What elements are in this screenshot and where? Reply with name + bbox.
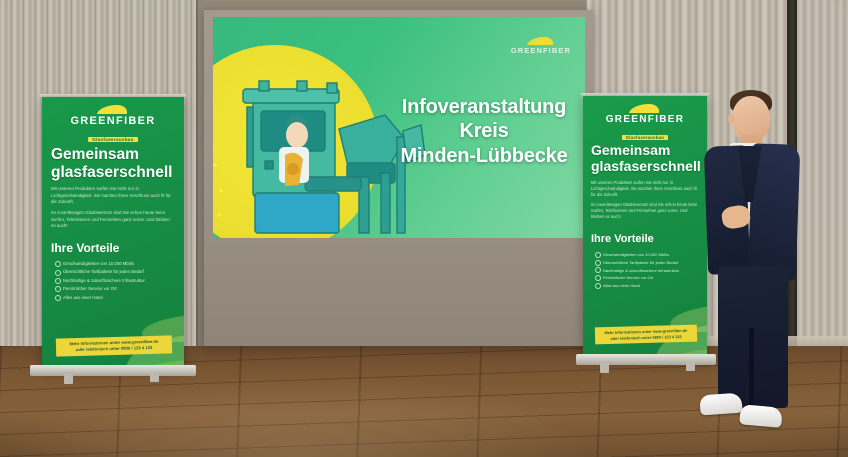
list-item: Persönlicher Service vor Ort xyxy=(595,274,703,282)
list-item: Nachhaltige & zukunftssichere Infrastruk… xyxy=(55,277,179,285)
presenter xyxy=(692,88,814,436)
swoosh-icon xyxy=(527,37,555,45)
presenter-leg-gap xyxy=(749,328,754,410)
swoosh-icon xyxy=(629,104,661,113)
list-item: Persönlicher Service vor Ort xyxy=(55,285,179,293)
presenter-shoe-left xyxy=(699,393,742,416)
banner-left-logo-wordmark: GREENFIBER xyxy=(42,115,184,127)
rollup-banner-left: GREENFIBER Glasfaserausbau Gemeinsam gla… xyxy=(42,97,184,369)
slide-greenfiber-logo: GREENFIBER xyxy=(511,37,571,55)
presenter-shoe-right xyxy=(739,404,783,428)
banner-right-logo: GREENFIBER Glasfaserausbau xyxy=(583,104,707,144)
banner-left-headline: Gemeinsam glasfaserschnell xyxy=(51,146,172,181)
banner-right-footer: Mehr Informationen unter www.greenfiber.… xyxy=(595,325,697,345)
list-item: Nachhaltige & zukunftssichere Infrastruk… xyxy=(595,267,703,275)
slide-headline-line-1: Infoveranstaltung xyxy=(389,95,579,119)
list-item: Übersichtliche Tarifpakete für jeden Bed… xyxy=(595,259,703,267)
banner-left-base xyxy=(30,365,196,376)
banner-left-body-2: Im zuverlässigen Glasfasernetz sind Sie … xyxy=(51,210,175,230)
presenter-ear xyxy=(728,114,735,124)
list-item: Alles aus einer Hand xyxy=(595,282,703,290)
banner-right-logo-wordmark: GREENFIBER xyxy=(583,114,707,125)
banner-right-headline-line-1: Gemeinsam xyxy=(591,143,701,159)
slide-headline-line-2: Kreis xyxy=(389,119,579,143)
banner-right-body-1: Mit unseren Produkten surfen Sie nicht n… xyxy=(591,180,699,198)
banner-right-foot-a xyxy=(600,363,609,373)
banner-right-benefits-list: Geschwindigkeiten von 10.000 Mbit/s Über… xyxy=(595,251,703,290)
banner-left-headline-line-2: glasfaserschnell xyxy=(51,164,172,182)
banner-left-benefits-list: Geschwindigkeiten von 10.000 Mbit/s Über… xyxy=(55,260,179,302)
slide-headline-line-3: Minden-Lübbecke xyxy=(389,144,579,168)
banner-right-logo-badge: Glasfaserausbau xyxy=(622,135,668,140)
rollup-banner-right: GREENFIBER Glasfaserausbau Gemeinsam gla… xyxy=(583,96,707,358)
banner-right-body-2: Im zuverlässigen Glasfasernetz sind Sie … xyxy=(591,202,699,220)
presentation-slide: Infoveranstaltung Kreis Minden-Lübbecke … xyxy=(213,17,585,238)
banner-right-headline-line-2: glasfaserschnell xyxy=(591,159,701,175)
slide-logo-wordmark: GREENFIBER xyxy=(511,46,571,55)
wall-seam-left xyxy=(196,0,198,352)
banner-left-body-1: Mit unseren Produkten surfen Sie nicht n… xyxy=(51,186,175,206)
banner-right-subhead: Ihre Vorteile xyxy=(591,233,654,245)
banner-left-logo: GREENFIBER Glasfaserausbau xyxy=(42,105,184,146)
list-item: Übersichtliche Tarifpakete für jeden Bed… xyxy=(55,268,179,276)
list-item: Geschwindigkeiten von 10.000 Mbit/s xyxy=(55,260,179,268)
event-photo-scene: Infoveranstaltung Kreis Minden-Lübbecke … xyxy=(0,0,848,457)
list-item: Geschwindigkeiten von 10.000 Mbit/s xyxy=(595,251,703,259)
banner-left-logo-badge: Glasfaserausbau xyxy=(88,137,138,142)
swoosh-icon xyxy=(97,105,129,114)
banner-left-foot-b xyxy=(150,372,159,382)
banner-left-footer: Mehr Informationen unter www.greenfiber.… xyxy=(56,335,172,356)
slide-headline: Infoveranstaltung Kreis Minden-Lübbecke xyxy=(389,95,579,168)
banner-right-headline: Gemeinsam glasfaserschnell xyxy=(591,143,701,175)
banner-left-foot-a xyxy=(64,374,73,384)
banner-left-subhead: Ihre Vorteile xyxy=(51,241,119,255)
list-item: Alles aus einer Hand xyxy=(55,294,179,302)
banner-left-headline-line-1: Gemeinsam xyxy=(51,146,172,164)
